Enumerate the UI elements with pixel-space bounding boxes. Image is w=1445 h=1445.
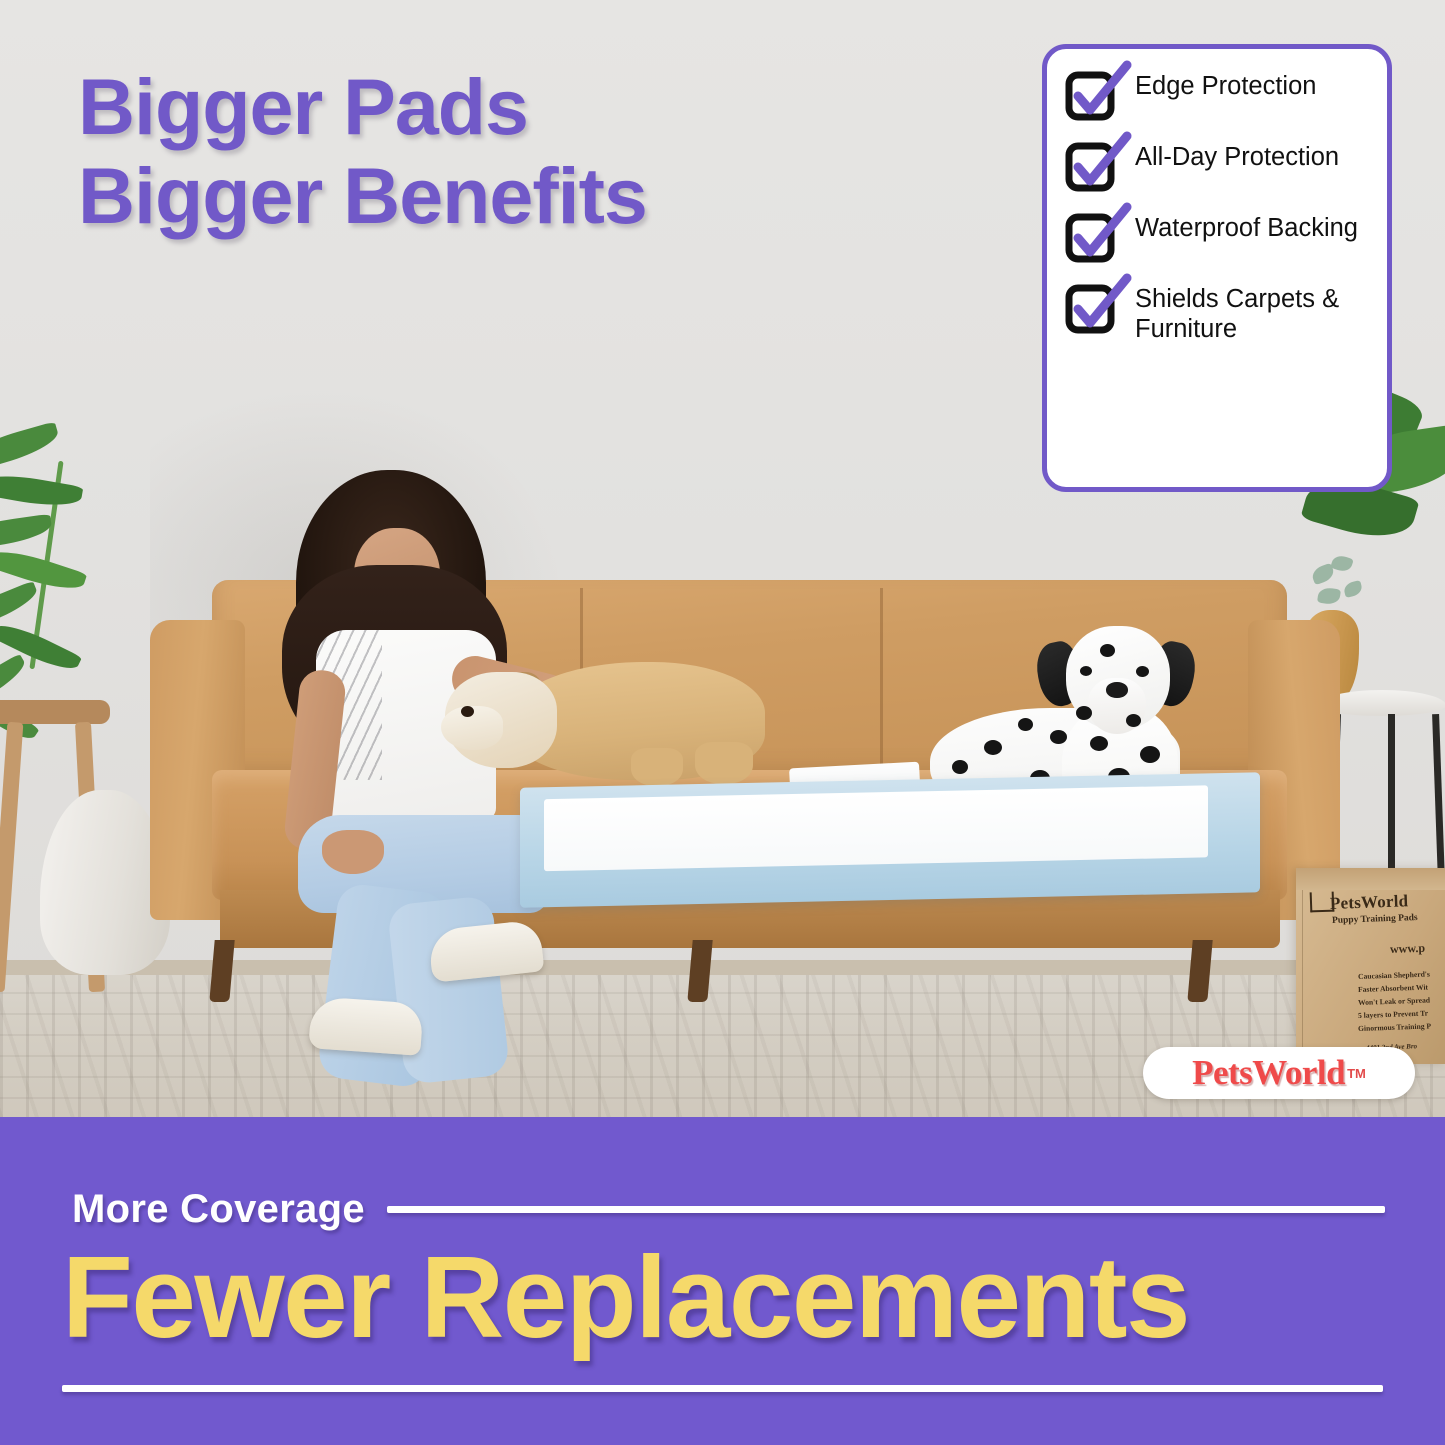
box-subtitle-text: Puppy Training Pads bbox=[1332, 913, 1418, 926]
sneaker bbox=[308, 996, 423, 1056]
banner-kicker: More Coverage bbox=[72, 1187, 365, 1232]
feature-item: Edge Protection bbox=[1065, 71, 1371, 121]
feature-label: Shields Carpets & Furniture bbox=[1135, 284, 1371, 345]
banner-divider-top bbox=[387, 1206, 1385, 1213]
checkbox-checked-icon bbox=[1065, 213, 1119, 263]
feature-item: Waterproof Backing bbox=[1065, 213, 1371, 263]
feature-item: All-Day Protection bbox=[1065, 142, 1371, 192]
feature-label: All-Day Protection bbox=[1135, 142, 1339, 173]
product-box: PetsWorld Puppy Training Pads www.p Cauc… bbox=[1296, 868, 1445, 1064]
checkbox-checked-icon bbox=[1065, 284, 1119, 334]
feature-item: Shields Carpets & Furniture bbox=[1065, 284, 1371, 345]
box-brand-text: PetsWorld bbox=[1330, 891, 1409, 914]
box-bullet: Won't Leak or Spread bbox=[1358, 995, 1430, 1007]
box-bullet: 5 layers to Prevent Tr bbox=[1358, 1009, 1428, 1020]
checkbox-checked-icon bbox=[1065, 142, 1119, 192]
banner-kicker-row: More Coverage bbox=[72, 1187, 1385, 1232]
box-url-text: www.p bbox=[1390, 941, 1426, 957]
banner-divider-bottom bbox=[62, 1385, 1383, 1392]
trademark-mark: TM bbox=[1347, 1066, 1366, 1081]
box-bullet: Caucasian Shepherd's bbox=[1358, 969, 1430, 981]
checkbox-checked-icon bbox=[1065, 71, 1119, 121]
training-pad bbox=[520, 772, 1260, 908]
feature-label: Edge Protection bbox=[1135, 71, 1316, 102]
headline-line-2: Bigger Benefits bbox=[78, 151, 938, 240]
bottom-banner: More Coverage Fewer Replacements bbox=[0, 1117, 1445, 1445]
brand-logo-pill: PetsWorld TM bbox=[1143, 1047, 1415, 1099]
feature-checklist-card: Edge Protection All-Day Protection Water… bbox=[1042, 44, 1392, 492]
banner-headline: Fewer Replacements bbox=[62, 1239, 1405, 1355]
page-headline: Bigger Pads Bigger Benefits bbox=[78, 62, 938, 241]
headline-line-1: Bigger Pads bbox=[78, 62, 938, 151]
box-bullet: Faster Absorbent Wit bbox=[1358, 983, 1428, 994]
feature-label: Waterproof Backing bbox=[1135, 213, 1358, 244]
brand-name: PetsWorld bbox=[1192, 1053, 1345, 1093]
box-bullet: Ginormous Training P bbox=[1358, 1021, 1431, 1033]
product-infographic: PetsWorld Puppy Training Pads www.p Cauc… bbox=[0, 0, 1445, 1445]
